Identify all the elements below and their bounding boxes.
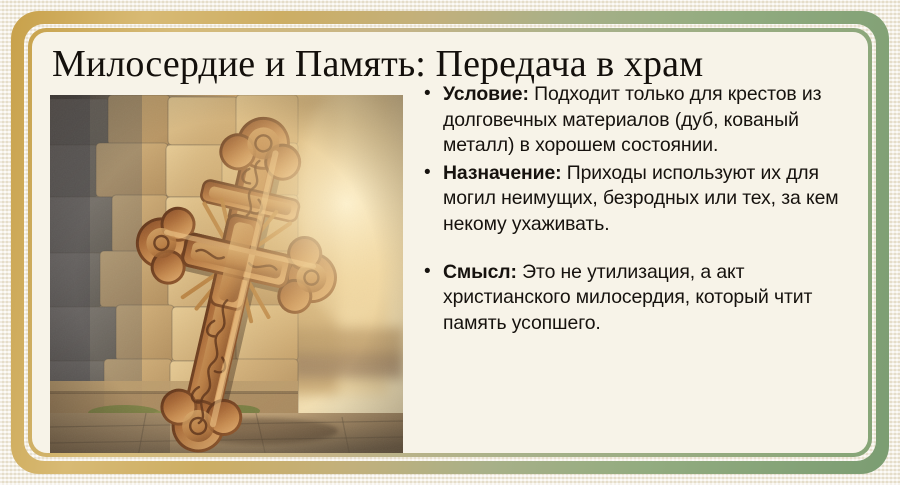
content-panel: Милосердие и Память: Передача в храм	[32, 32, 868, 453]
bullet-lead: Условие:	[443, 83, 529, 105]
cross-photo-canvas	[50, 95, 403, 453]
cross-photo	[50, 95, 403, 453]
bullet-list: Условие: Подходит только для крестов из …	[422, 82, 854, 336]
bullet-item-purpose: Назначение: Приходы используют их для мо…	[422, 161, 854, 238]
bullet-list-container: Условие: Подходит только для крестов из …	[422, 82, 854, 338]
slide-title: Милосердие и Память: Передача в храм	[52, 40, 852, 88]
slide-root: Милосердие и Память: Передача в храм	[0, 0, 900, 485]
bullet-item-meaning: Смысл: Это не утилизация, а акт христиан…	[422, 260, 854, 337]
cross-photo-illustration	[50, 95, 403, 453]
bullet-lead: Назначение:	[443, 162, 562, 184]
bullet-lead: Смысл:	[443, 261, 517, 283]
bullet-item-condition: Условие: Подходит только для крестов из …	[422, 82, 854, 159]
